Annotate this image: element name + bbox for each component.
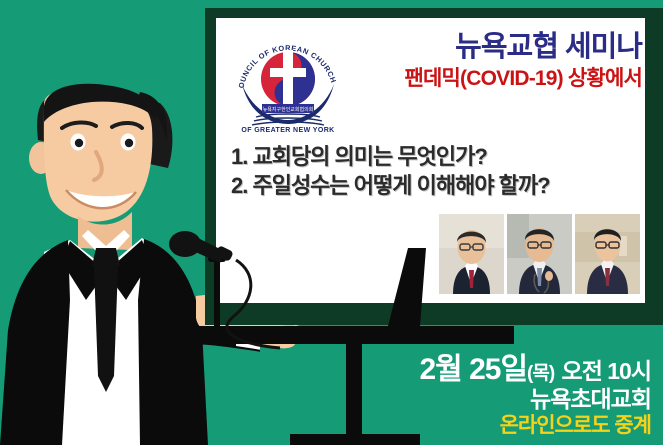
seminar-poster: COUNCIL OF KOREAN CHURCHES 뉴욕지구한인교회협의회 O… (0, 0, 663, 445)
seminar-title: 뉴욕교협 세미나 (346, 32, 642, 62)
event-weekday: (목) (527, 363, 554, 384)
event-date-line: 2월 25일(목) 오전 10시 (419, 354, 651, 386)
laptop-icon (362, 248, 470, 336)
event-online-note: 온라인으로도 중계 (419, 415, 651, 437)
logo-banner-text: 뉴욕지구한인교회협의회 (263, 106, 314, 113)
event-details: 2월 25일(목) 오전 10시 뉴욕초대교회 온라인으로도 중계 (419, 354, 651, 437)
question-item-1: 1. 교회당의 의미는 무엇인가? (231, 142, 641, 171)
microphone-icon (169, 231, 234, 263)
event-time: 오전 10시 (562, 358, 651, 384)
council-of-korean-churches-logo: COUNCIL OF KOREAN CHURCHES 뉴욕지구한인교회협의회 O… (234, 24, 342, 134)
speaker-photo-3 (575, 214, 640, 294)
event-date: 2월 25일 (419, 353, 527, 386)
logo-bottom-text: OF GREATER NEW YORK (241, 127, 334, 134)
question-item-2: 2. 주일성수는 어떻게 이해해야 할까? (231, 171, 641, 200)
event-venue: 뉴욕초대교회 (419, 387, 651, 411)
slide-title-block: 뉴욕교협 세미나 팬데믹(COVID-19) 상황에서 (346, 32, 642, 91)
seminar-questions: 1. 교회당의 의미는 무엇인가? 2. 주일성수는 어떻게 이해해야 할까? (231, 142, 641, 200)
seminar-subtitle: 팬데믹(COVID-19) 상황에서 (346, 67, 642, 90)
